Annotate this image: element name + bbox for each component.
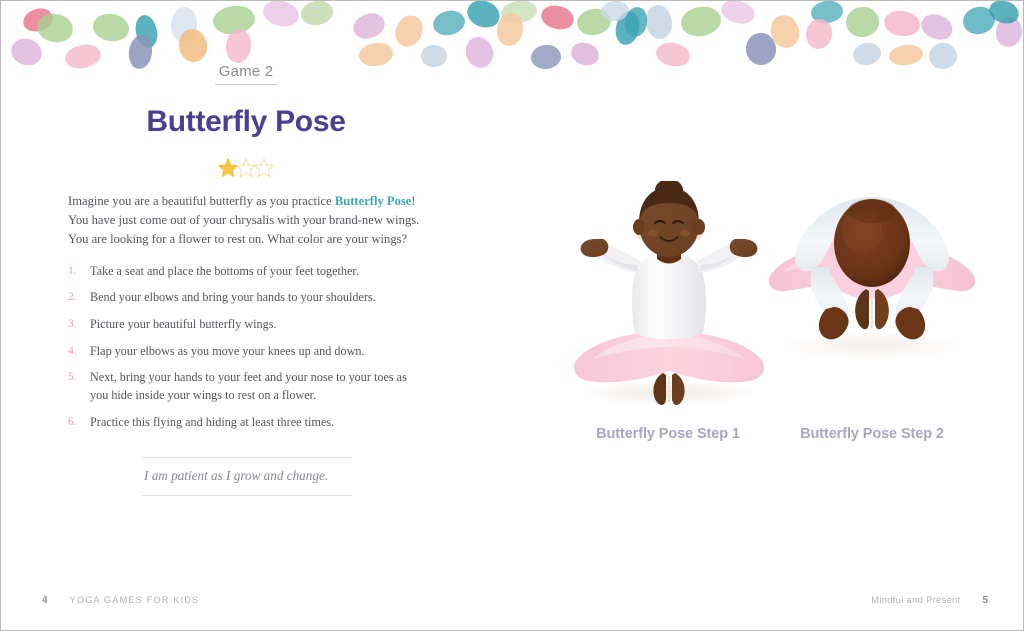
- right-page-number: 5: [983, 595, 988, 606]
- instruction-step: 6.Practice this flying and hiding at lea…: [68, 414, 424, 432]
- step-number: 6.: [68, 414, 77, 431]
- right-page-footer: Mindful and Present5: [871, 593, 988, 607]
- step-text: Flap your elbows as you move your knees …: [90, 344, 365, 358]
- instruction-step: 4.Flap your elbows as you move your knee…: [68, 343, 424, 361]
- book-spread: Game 2 Butterfly Pose Imagine you are a …: [0, 0, 1024, 631]
- instruction-step: 3.Picture your beautiful butterfly wings…: [68, 316, 424, 334]
- instruction-step: 5.Next, bring your hands to your feet an…: [68, 369, 424, 404]
- affirmation-block: I am patient as I grow and change.: [142, 457, 352, 495]
- step-number: 1.: [68, 263, 77, 280]
- caption-step-2: Butterfly Pose Step 2: [757, 426, 987, 442]
- pose-figure-step-1: [559, 181, 779, 451]
- pose-name-highlight: Butterfly Pose: [335, 194, 412, 208]
- instruction-step: 2.Bend your elbows and bring your hands …: [68, 289, 424, 307]
- step-number: 5.: [68, 369, 77, 386]
- step-text: Practice this flying and hiding at least…: [90, 415, 334, 429]
- left-page-footer: 4YOGA GAMES FOR KIDS: [42, 593, 199, 607]
- pose-figure-step-2: [762, 181, 982, 451]
- yoga-butterfly-pose-step-2-illustration: [762, 181, 982, 451]
- pose-torso: [632, 253, 706, 339]
- star-filled-icon: [218, 158, 238, 178]
- step-number: 3.: [68, 316, 77, 333]
- step-text: Picture your beautiful butterfly wings.: [90, 317, 277, 331]
- step-text: Take a seat and place the bottoms of you…: [90, 264, 359, 278]
- star-empty-icon: [236, 158, 256, 178]
- page-title: Butterfly Pose: [68, 105, 424, 138]
- intro-paragraph: Imagine you are a beautiful butterfly as…: [68, 192, 424, 249]
- affirmation-text: I am patient as I grow and change.: [142, 458, 352, 494]
- step-text: Bend your elbows and bring your hands to…: [90, 290, 376, 304]
- instruction-step: 1.Take a seat and place the bottoms of y…: [68, 263, 424, 281]
- step-number: 2.: [68, 289, 77, 306]
- left-running-head: YOGA GAMES FOR KIDS: [69, 595, 199, 605]
- step-text: Next, bring your hands to your feet and …: [90, 370, 407, 402]
- figure-captions: Butterfly Pose Step 1 Butterfly Pose Ste…: [513, 426, 1024, 450]
- yoga-butterfly-pose-step-1-illustration: [559, 181, 779, 451]
- affirmation-rule-bottom: [142, 495, 352, 496]
- left-page-number: 4: [42, 595, 47, 606]
- right-running-head: Mindful and Present: [871, 595, 960, 605]
- instruction-steps-list: 1.Take a seat and place the bottoms of y…: [68, 263, 424, 432]
- step-number: 4.: [68, 343, 77, 360]
- game-label-underline: [215, 84, 277, 85]
- difficulty-rating: [68, 158, 424, 178]
- intro-text-before: Imagine you are a beautiful butterfly as…: [68, 194, 335, 208]
- pose-illustrations: [513, 181, 1024, 451]
- left-page: Game 2 Butterfly Pose Imagine you are a …: [2, 1, 513, 631]
- game-label: Game 2: [68, 63, 424, 84]
- caption-step-1: Butterfly Pose Step 1: [553, 426, 783, 442]
- star-empty-icon: [254, 158, 274, 178]
- right-page: Butterfly Pose Step 1 Butterfly Pose Ste…: [513, 1, 1024, 631]
- game-content: Game 2 Butterfly Pose Imagine you are a …: [68, 63, 424, 496]
